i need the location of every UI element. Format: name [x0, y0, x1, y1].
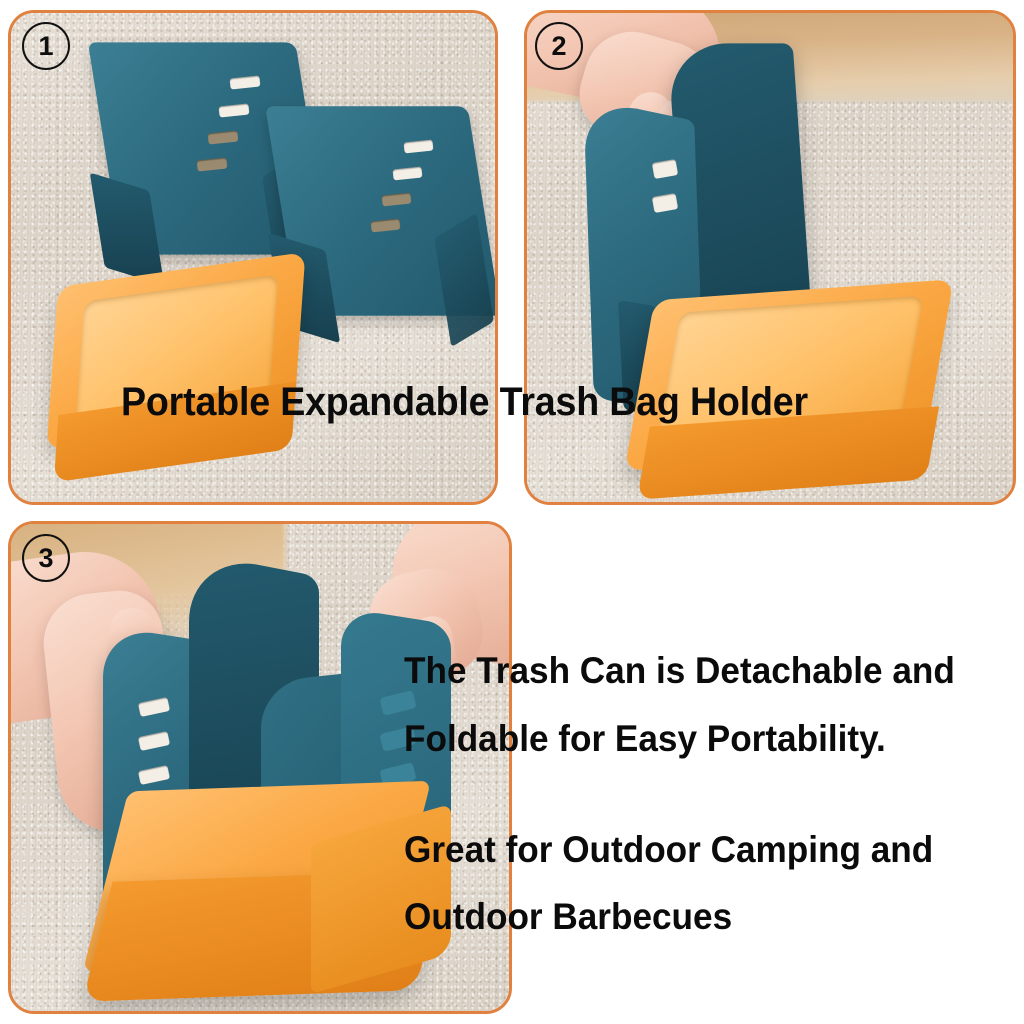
step-badge-2: 2 [535, 22, 583, 70]
photo-scene-2 [527, 13, 1013, 502]
step-badge-1: 1 [22, 22, 70, 70]
infographic-sheet: 1 2 3 Portable Expandable Trash Bag Hold… [0, 0, 1024, 1024]
body-copy-line-3: Great for Outdoor Camping and [404, 829, 933, 871]
product-photo-panel-3 [8, 521, 512, 1014]
step-badge-3: 3 [22, 534, 70, 582]
body-copy-line-2: Foldable for Easy Portability. [404, 718, 886, 760]
product-photo-panel-1 [8, 10, 498, 505]
photo-scene-1 [11, 13, 495, 502]
product-photo-panel-2 [524, 10, 1016, 505]
headline-text: Portable Expandable Trash Bag Holder [121, 380, 808, 425]
body-copy-line-4: Outdoor Barbecues [404, 896, 732, 938]
body-copy-line-1: The Trash Can is Detachable and [404, 650, 955, 692]
